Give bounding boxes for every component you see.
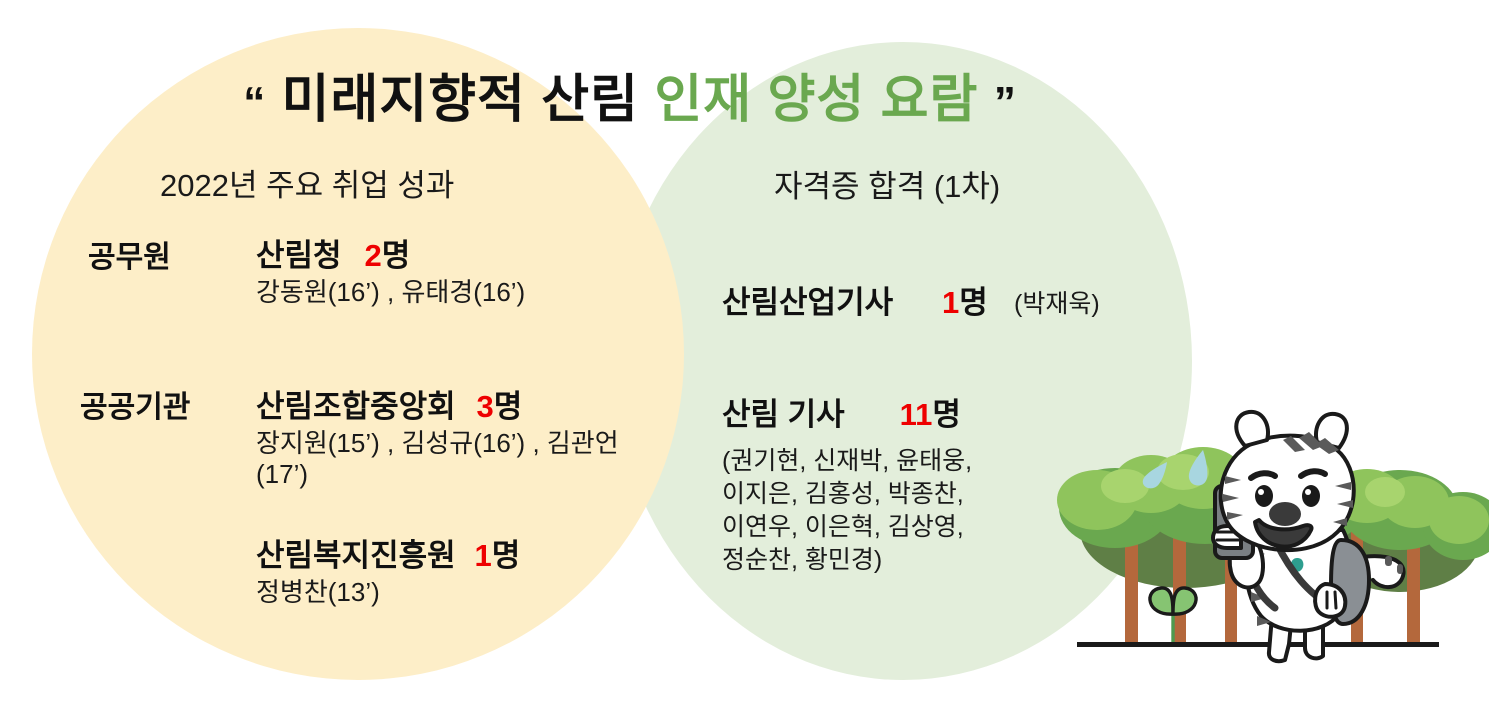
title-part-green: 인재 양성 요람 [654, 71, 978, 129]
org-count-unit: 명 [494, 389, 523, 424]
org-count-unit: 명 [382, 238, 411, 273]
org-row-forest-service: 산림청 2명 [256, 230, 410, 275]
quote-open: “ [243, 78, 266, 127]
cert-count-unit: 명 [959, 285, 988, 320]
cert-count-unit: 명 [932, 397, 961, 432]
cert-row-industrial-engineer: 산림산업기사 1명 [722, 277, 988, 322]
org-name: 산림조합중앙회 [256, 389, 456, 424]
page-title: “ 미래지향적 산림 인재 양성 요람 ” [0, 57, 1260, 132]
org-count: 3 [477, 389, 494, 424]
names-list-forest-engineer: (권기현, 신재박, 윤태웅, 이지은, 김홍성, 박종찬, 이연우, 이은혁,… [722, 445, 972, 577]
cert-count: 1 [942, 285, 959, 320]
names-list-forest-service: 강동원(16’) , 유태경(16’) [256, 277, 525, 308]
cert-row-forest-engineer: 산림 기사 11명 [722, 389, 961, 434]
org-count-unit: 명 [492, 538, 521, 573]
names-list-forest-welfare: 정병찬(13’) [256, 577, 380, 608]
names-list-forestry-coop: 장지원(15’) , 김성규(16’) , 김관언(17’) [256, 428, 636, 489]
org-row-forestry-coop: 산림조합중앙회 3명 [256, 381, 522, 426]
org-row-forest-welfare: 산림복지진흥원 1명 [256, 530, 520, 575]
org-count: 1 [475, 538, 492, 573]
cert-name: 산림산업기사 [722, 285, 893, 320]
quote-close: ” [994, 78, 1017, 127]
infographic-canvas: “ 미래지향적 산림 인재 양성 요람 ” 2022년 주요 취업 성과 공무원… [0, 0, 1489, 717]
nose [1269, 502, 1301, 526]
eye-left [1255, 485, 1273, 507]
category-label-public-servant: 공무원 [88, 232, 171, 276]
left-circle-subtitle: 2022년 주요 취업 성과 [160, 160, 454, 205]
org-name: 산림복지진흥원 [256, 538, 456, 573]
org-name: 산림청 [256, 238, 342, 273]
right-circle-subtitle: 자격증 합격 (1차) [774, 161, 1000, 206]
category-label-public-institution: 공공기관 [80, 382, 190, 426]
forest-tiger-mascot [1055, 380, 1489, 670]
org-count: 2 [364, 238, 381, 273]
cert-name: 산림 기사 [722, 397, 845, 432]
ground-line [1077, 642, 1439, 647]
eye-right [1302, 485, 1320, 507]
names-list-industrial-engineer: (박재욱) [1014, 284, 1100, 320]
cert-count: 11 [900, 397, 933, 432]
title-part-dark: 미래지향적 산림 [282, 71, 639, 129]
